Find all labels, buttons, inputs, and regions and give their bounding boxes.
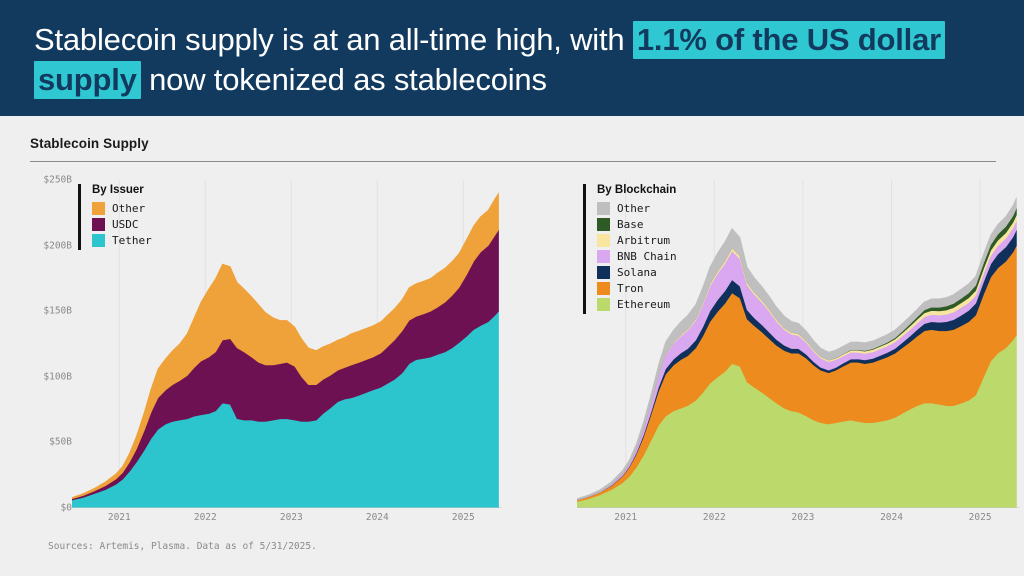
legend-by-blockchain: By Blockchain OtherBaseArbitrumBNB Chain…	[583, 184, 677, 314]
legend-title: By Blockchain	[597, 184, 677, 196]
legend-items: OtherUSDCTether	[92, 202, 152, 247]
legend-label: Solana	[617, 266, 657, 279]
legend-item-ethereum[interactable]: Ethereum	[597, 298, 677, 311]
legend-item-tether[interactable]: Tether	[92, 234, 152, 247]
x-axis-tick-label: 2023	[791, 512, 814, 523]
legend-label: Tether	[112, 234, 152, 247]
y-axis-labels-by-issuer: $0$50B$100B$150B$200B$250B	[22, 180, 72, 508]
section-title: Stablecoin Supply	[30, 136, 149, 151]
legend-label: Ethereum	[617, 298, 670, 311]
source-footnote: Sources: Artemis, Plasma. Data as of 5/3…	[48, 541, 317, 552]
legend-swatch-icon	[597, 250, 610, 263]
section-divider	[30, 161, 996, 162]
header-band: Stablecoin supply is at an all-time high…	[0, 0, 1024, 116]
legend-swatch-icon	[597, 282, 610, 295]
legend-label: USDC	[112, 218, 139, 231]
x-axis-tick-label: 2025	[452, 512, 475, 523]
legend-item-solana[interactable]: Solana	[597, 266, 677, 279]
legend-swatch-icon	[92, 218, 105, 231]
legend-label: Other	[112, 202, 145, 215]
legend-swatch-icon	[597, 266, 610, 279]
x-axis-tick-label: 2025	[969, 512, 992, 523]
y-axis-tick-label: $150B	[43, 306, 72, 317]
x-axis-tick-label: 2021	[614, 512, 637, 523]
y-axis-tick-label: $250B	[43, 175, 72, 186]
legend-swatch-icon	[92, 234, 105, 247]
legend-label: Tron	[617, 282, 644, 295]
legend-swatch-icon	[597, 234, 610, 247]
y-axis-tick-label: $100B	[43, 371, 72, 382]
legend-item-bnb-chain[interactable]: BNB Chain	[597, 250, 677, 263]
x-axis-tick-label: 2022	[194, 512, 217, 523]
chart-panel-by-issuer: $0$50B$100B$150B$200B$250B By Issuer Oth…	[22, 180, 512, 520]
legend-item-other[interactable]: Other	[597, 202, 677, 215]
headline-text: Stablecoin supply is at an all-time high…	[34, 22, 633, 57]
legend-swatch-icon	[597, 202, 610, 215]
legend-item-other[interactable]: Other	[92, 202, 152, 215]
legend-item-arbitrum[interactable]: Arbitrum	[597, 234, 677, 247]
legend-label: Arbitrum	[617, 234, 670, 247]
x-axis-tick-label: 2023	[280, 512, 303, 523]
y-axis-tick-label: $50B	[49, 437, 72, 448]
legend-by-issuer: By Issuer OtherUSDCTether	[78, 184, 152, 250]
x-axis-tick-label: 2022	[703, 512, 726, 523]
legend-item-tron[interactable]: Tron	[597, 282, 677, 295]
legend-swatch-icon	[597, 298, 610, 311]
page-headline: Stablecoin supply is at an all-time high…	[34, 20, 994, 100]
y-axis-tick-label: $200B	[43, 240, 72, 251]
legend-swatch-icon	[92, 202, 105, 215]
legend-label: Base	[617, 218, 644, 231]
legend-item-base[interactable]: Base	[597, 218, 677, 231]
x-axis-labels-by-blockchain: 20212022202320242025	[530, 512, 1020, 532]
legend-label: BNB Chain	[617, 250, 677, 263]
legend-label: Other	[617, 202, 650, 215]
headline-text: now tokenized as stablecoins	[141, 62, 547, 97]
x-axis-tick-label: 2021	[108, 512, 131, 523]
legend-swatch-icon	[597, 218, 610, 231]
x-axis-tick-label: 2024	[880, 512, 903, 523]
chart-panel-by-blockchain: By Blockchain OtherBaseArbitrumBNB Chain…	[530, 180, 1020, 520]
legend-item-usdc[interactable]: USDC	[92, 218, 152, 231]
legend-items: OtherBaseArbitrumBNB ChainSolanaTronEthe…	[597, 202, 677, 311]
x-axis-tick-label: 2024	[366, 512, 389, 523]
legend-title: By Issuer	[92, 184, 152, 196]
x-axis-labels-by-issuer: 20212022202320242025	[22, 512, 512, 532]
